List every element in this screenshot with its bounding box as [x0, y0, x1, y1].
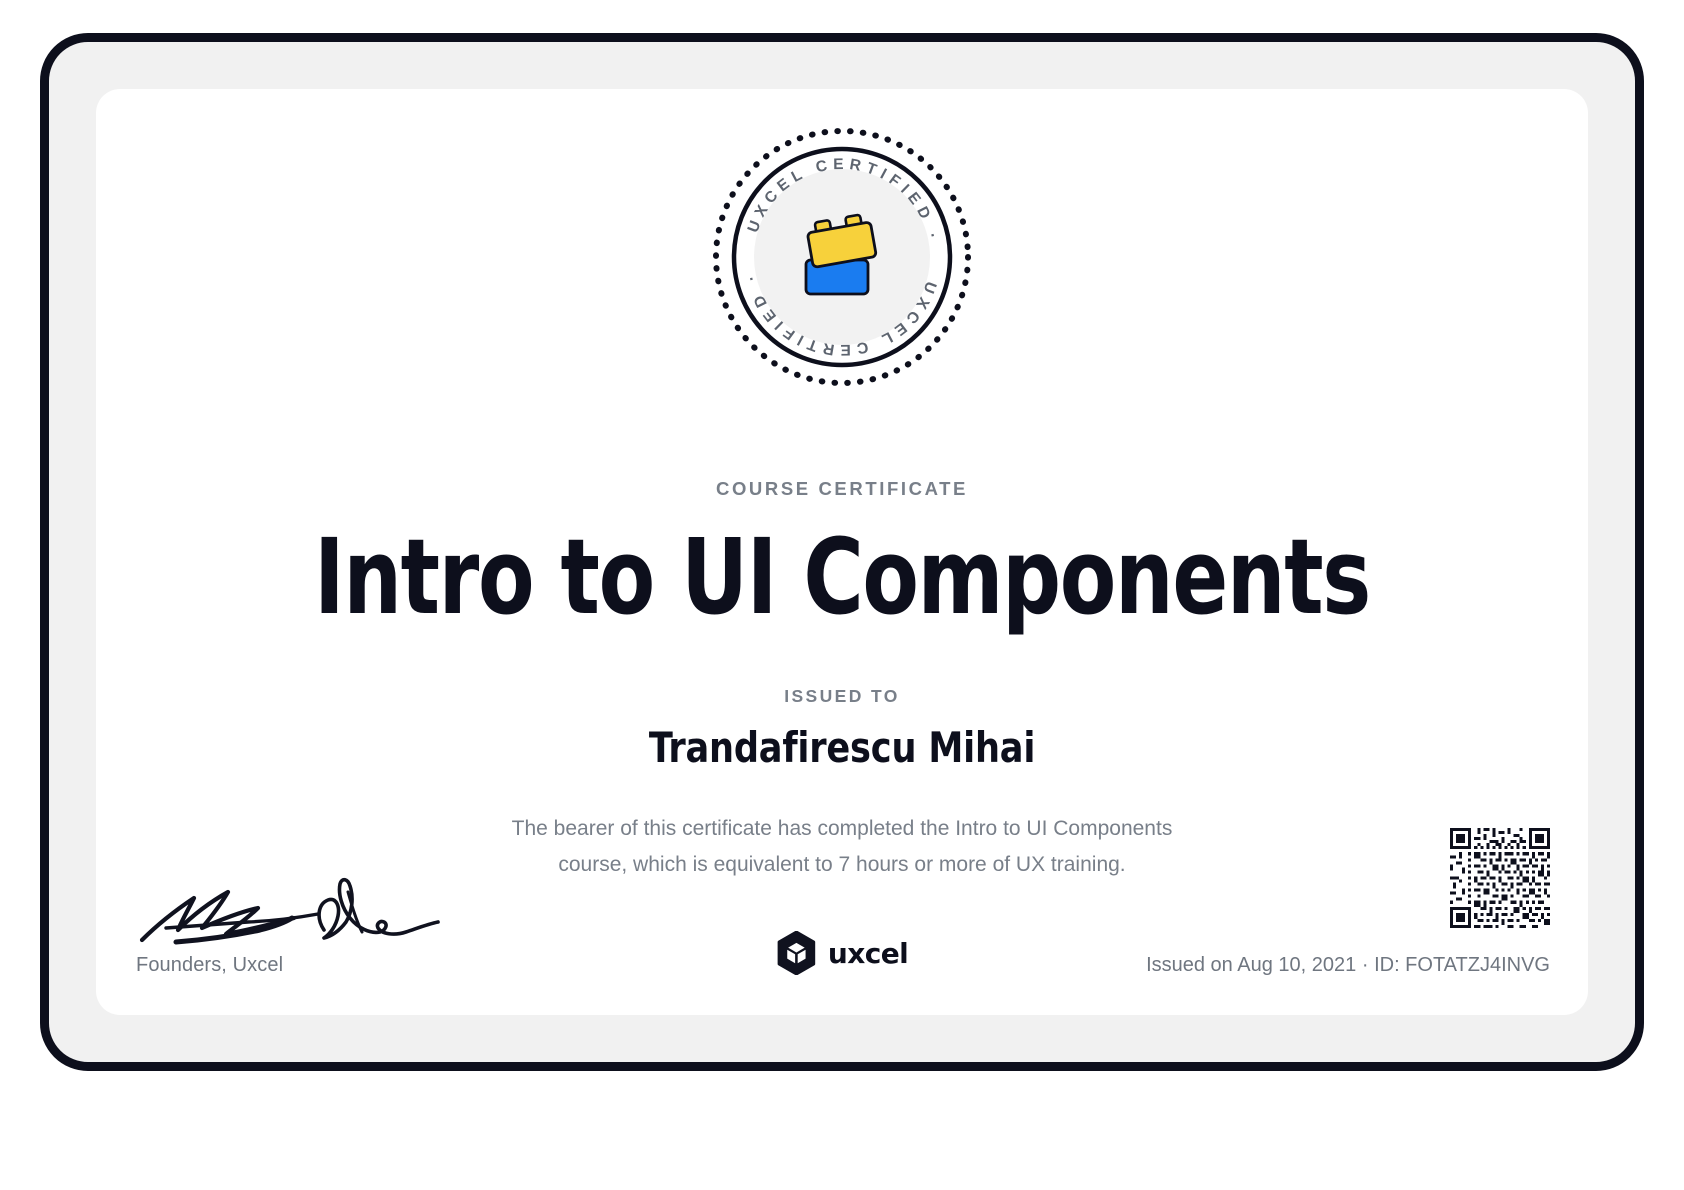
verification-qr-code[interactable] [1450, 828, 1550, 928]
founders-signature-block: Founders, Uxcel [136, 866, 466, 977]
course-certificate-label: COURSE CERTIFICATE [96, 478, 1588, 500]
issue-info: Issued on Aug 10, 2021 · ID: FOTATZJ4INV… [1146, 954, 1550, 977]
certificate-id: ID: FOTATZJ4INVG [1374, 954, 1550, 976]
founders-signature-icon [136, 866, 446, 948]
certificate-meta-block: Issued on Aug 10, 2021 · ID: FOTATZJ4INV… [1146, 828, 1550, 977]
uxcel-hexagon-cube-icon [776, 931, 817, 975]
certificate-footer: Founders, Uxcel uxcel [96, 825, 1588, 1015]
uxcel-wordmark: uxcel [828, 937, 908, 970]
meta-separator: · [1362, 954, 1369, 976]
uxcel-certified-badge: UXCEL CERTIFIED · UXCEL CERTIFIED · [709, 124, 975, 390]
issued-to-label: ISSUED TO [96, 686, 1588, 707]
uxcel-brand-logo: uxcel [776, 931, 908, 975]
certificate-card: UXCEL CERTIFIED · UXCEL CERTIFIED · [96, 89, 1588, 1015]
course-title: Intro to UI Components [186, 523, 1499, 632]
signature-caption: Founders, Uxcel [136, 954, 466, 977]
recipient-name: Trandafirescu Mihai [148, 723, 1536, 772]
certificate-frame: UXCEL CERTIFIED · UXCEL CERTIFIED · [40, 33, 1644, 1071]
issued-on-date: Issued on Aug 10, 2021 [1146, 954, 1356, 976]
